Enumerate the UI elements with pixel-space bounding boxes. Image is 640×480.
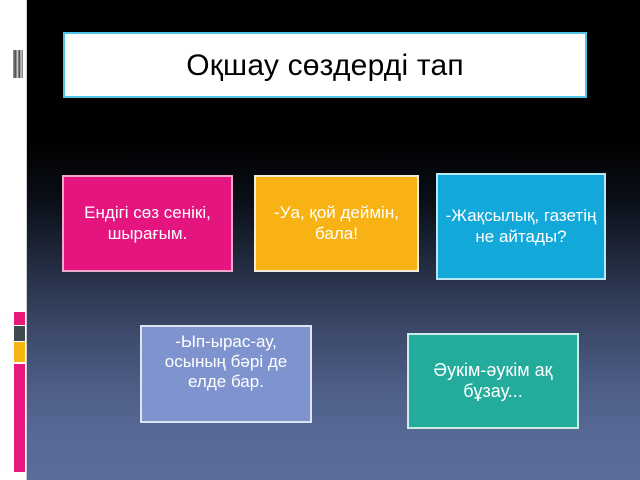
card-cyan[interactable]: -Жақсылық, газетің не айтады? — [436, 173, 606, 280]
slide-title-box: Оқшау сөздерді тап — [63, 32, 587, 98]
card-periwinkle[interactable]: -Ып-ырас-ау, осының бәрі де елде бар. — [140, 325, 312, 423]
card-teal-text: Әукім-әукім ақ бұзау... — [409, 360, 577, 402]
card-pink-text: Ендігі сөз сенікі, шырағым. — [64, 203, 231, 243]
pink-chip-small-icon — [14, 312, 25, 325]
card-pink[interactable]: Ендігі сөз сенікі, шырағым. — [62, 175, 233, 272]
yellow-chip-icon — [14, 342, 25, 362]
card-yellow-text: -Уа, қой деймін, бала! — [256, 203, 417, 243]
card-cyan-text: -Жақсылық, газетің не айтады? — [438, 206, 604, 246]
card-yellow[interactable]: -Уа, қой деймін, бала! — [254, 175, 419, 272]
card-periwinkle-text: -Ып-ырас-ау, осының бәрі де елде бар. — [142, 327, 310, 392]
dark-chip-icon — [14, 326, 25, 341]
slide-title: Оқшау сөздерді тап — [176, 49, 474, 82]
slide-canvas: Оқшау сөздерді тап Ендігі сөз сенікі, шы… — [0, 0, 640, 480]
left-side-panel — [0, 0, 27, 480]
card-teal[interactable]: Әукім-әукім ақ бұзау... — [407, 333, 579, 429]
pink-chip-long-icon — [14, 364, 25, 472]
gray-bar-marker-icon — [13, 50, 23, 78]
